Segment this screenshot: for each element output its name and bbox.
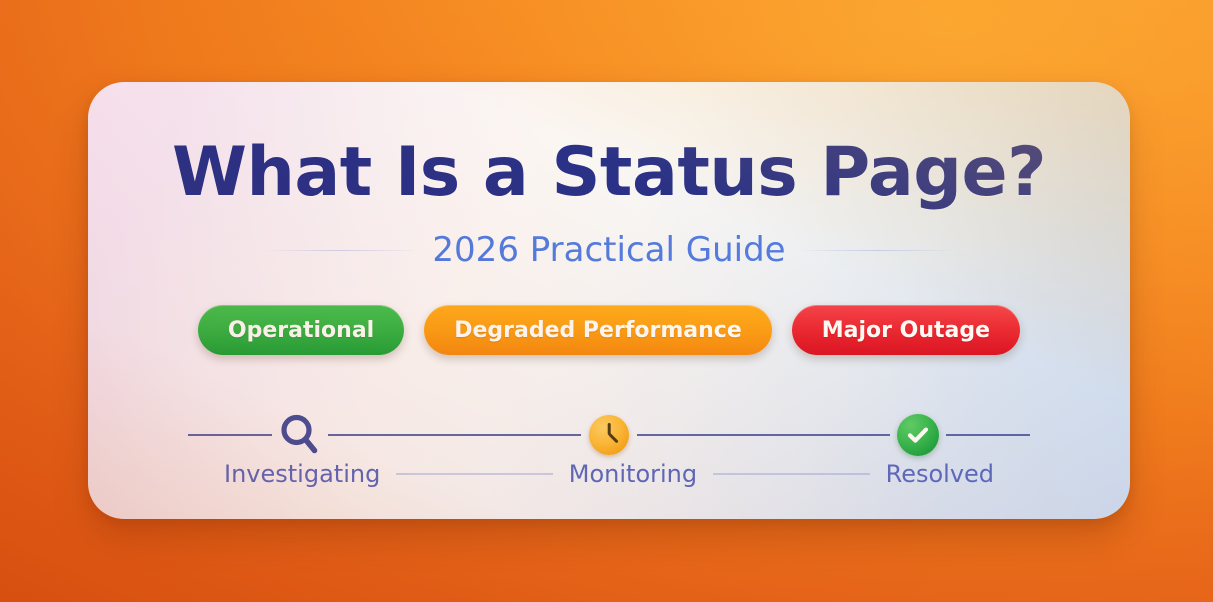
clock-icon (589, 415, 629, 455)
timeline-line-1 (328, 434, 581, 436)
status-pill-degraded-performance[interactable]: Degraded Performance (424, 305, 772, 355)
timeline-label-line-1 (396, 473, 552, 475)
page-title: What Is a Status Page? (88, 139, 1130, 207)
timeline-line-start (188, 434, 272, 436)
timeline-label-row: Investigating Monitoring Resolved (188, 460, 1030, 488)
timeline-node-monitoring[interactable] (581, 414, 637, 456)
timeline-line-end (946, 434, 1030, 436)
timeline-track (188, 414, 1030, 456)
timeline-label-line-2 (713, 473, 869, 475)
status-pill-group: Operational Degraded Performance Major O… (88, 305, 1130, 355)
subtitle-rule-left (266, 250, 414, 251)
timeline-label-resolved: Resolved (886, 460, 994, 488)
timeline-node-resolved[interactable] (890, 414, 946, 456)
timeline-label-investigating: Investigating (224, 460, 380, 488)
timeline-node-investigating[interactable] (272, 414, 328, 456)
page-subtitle: 2026 Practical Guide (432, 230, 785, 270)
incident-timeline: Investigating Monitoring Resolved (188, 378, 1030, 488)
subtitle-rule-right (804, 250, 952, 251)
timeline-label-monitoring: Monitoring (569, 460, 697, 488)
status-pill-major-outage[interactable]: Major Outage (792, 305, 1020, 355)
subtitle-row: 2026 Practical Guide (88, 230, 1130, 270)
status-page-card: What Is a Status Page? 2026 Practical Gu… (88, 82, 1130, 519)
magnifier-icon (277, 412, 323, 458)
check-circle-icon (897, 414, 939, 456)
status-pill-operational[interactable]: Operational (198, 305, 404, 355)
poster-background: What Is a Status Page? 2026 Practical Gu… (0, 0, 1213, 602)
timeline-line-2 (637, 434, 890, 436)
